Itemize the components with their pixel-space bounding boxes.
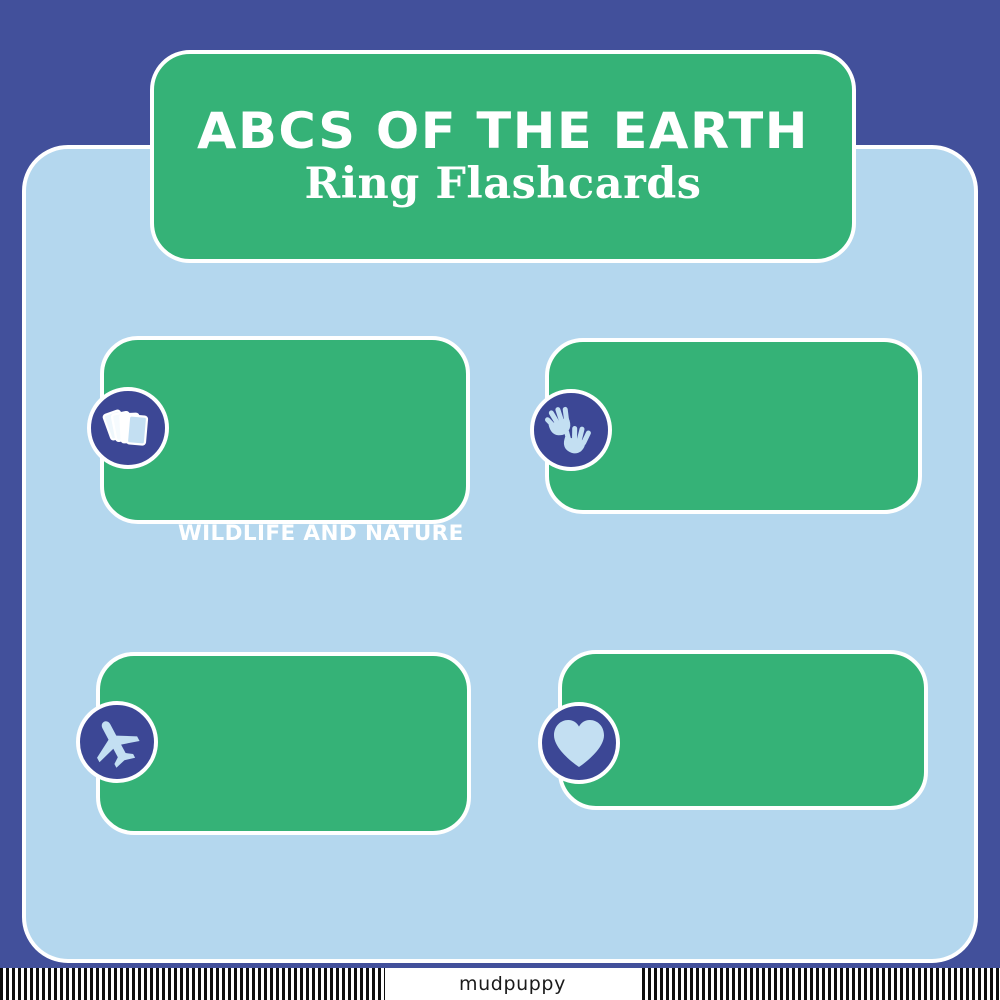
product-subtitle: Ring Flashcards	[304, 162, 701, 207]
product-title: ABCS OF THE EARTH	[197, 106, 809, 156]
flashcards-stack-icon	[87, 387, 169, 469]
title-banner: ABCS OF THE EARTH Ring Flashcards	[150, 50, 856, 263]
hands-icon	[530, 389, 612, 471]
footer-barcode-strip: mudpuppy	[0, 968, 1000, 1000]
mudpuppy-wordmark: mudpuppy	[459, 975, 566, 994]
airplane-icon	[76, 701, 158, 783]
footer-logo-box: mudpuppy	[385, 968, 640, 1000]
content-panel	[22, 145, 978, 963]
product-infographic: ABCS OF THE EARTH Ring Flashcards 26 DOU…	[0, 0, 1000, 1000]
heart-icon	[538, 702, 620, 784]
